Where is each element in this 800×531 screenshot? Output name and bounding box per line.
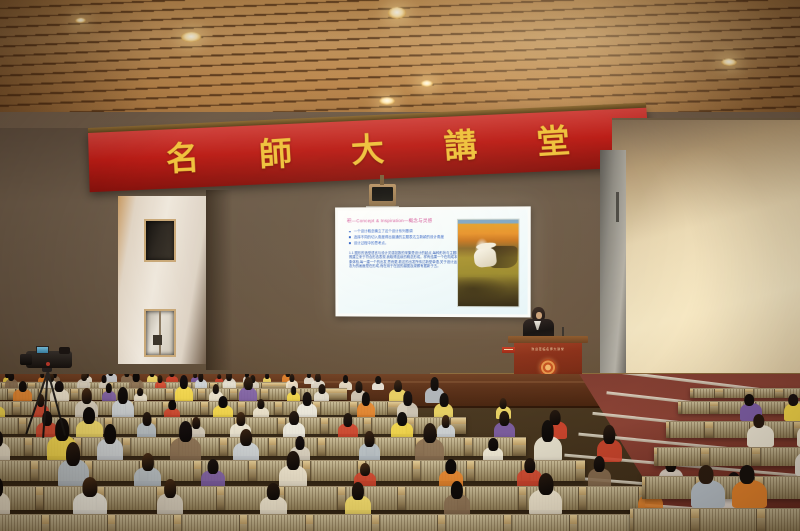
audience-member-head bbox=[240, 429, 252, 446]
seat-back bbox=[586, 487, 639, 510]
slide-bullet-0: 一个设计概念确立了这个设计系列基调 bbox=[349, 229, 466, 234]
projector-lens bbox=[372, 187, 393, 201]
audience-member-head bbox=[289, 374, 294, 382]
seat-back bbox=[669, 422, 705, 437]
audience-member-head bbox=[430, 377, 439, 390]
audience-member-head bbox=[788, 394, 798, 406]
audience-member-head bbox=[365, 431, 374, 447]
seat-back bbox=[445, 515, 504, 531]
wall-niche-lower bbox=[144, 309, 176, 357]
audience-member-body bbox=[784, 403, 800, 421]
audience-member-head bbox=[133, 374, 140, 382]
slide-bullet-1: 选择不同的切入角度得出普通的主题表达立新颖的设计角度 bbox=[349, 235, 466, 240]
projection-screen: 积—Concept & Inspiration—概念与灵感 一个设计概念确立了这… bbox=[335, 206, 531, 317]
camera-lens-icon bbox=[20, 354, 32, 365]
seat-back bbox=[374, 438, 416, 456]
audience-member-head bbox=[524, 458, 535, 474]
audience-member-head bbox=[594, 456, 605, 473]
projector-icon bbox=[369, 184, 396, 206]
seat-back bbox=[511, 515, 570, 531]
audience-member-head bbox=[500, 398, 507, 409]
stage-side-door bbox=[600, 150, 626, 374]
camera-lcd-screen bbox=[36, 346, 49, 354]
audience-member-head bbox=[217, 374, 221, 379]
banner-char-3: 講 bbox=[442, 118, 481, 168]
seat-back bbox=[313, 515, 372, 531]
seat-back bbox=[0, 515, 42, 531]
projector-mount bbox=[380, 175, 384, 185]
seat-back bbox=[284, 487, 337, 510]
presentation-slide: 积—Concept & Inspiration—概念与灵感 一个设计概念确立了这… bbox=[338, 209, 528, 314]
audience-member-head bbox=[397, 412, 407, 426]
slide-painting-image bbox=[457, 219, 520, 308]
seat-back bbox=[0, 461, 31, 481]
audience-member-head bbox=[82, 477, 97, 497]
audience-member-head bbox=[439, 393, 448, 407]
podium-front-text: 欢迎莅临名师大讲堂 bbox=[521, 347, 575, 351]
banner-char-4: 堂 bbox=[535, 114, 574, 164]
seat-back bbox=[0, 418, 19, 433]
slide-title: 积—Concept & Inspiration—概念与灵感 bbox=[347, 218, 433, 224]
audience-member-head bbox=[219, 396, 228, 408]
seat-back bbox=[115, 515, 174, 531]
audience-member-head bbox=[257, 399, 264, 410]
seat-back bbox=[765, 509, 800, 531]
audience-member-head bbox=[66, 442, 80, 466]
seat-back bbox=[49, 515, 108, 531]
camera-viewfinder bbox=[59, 347, 70, 354]
seat-back bbox=[657, 448, 701, 467]
audience-member-head bbox=[81, 374, 87, 381]
audience-member-head bbox=[158, 375, 163, 383]
audience-member-head bbox=[213, 384, 219, 394]
pillar-shadow bbox=[206, 190, 232, 370]
painting-figure-body bbox=[473, 246, 497, 267]
video-camera-on-tripod bbox=[18, 345, 80, 437]
audience-member-head bbox=[168, 400, 176, 410]
seat-back bbox=[92, 461, 140, 481]
audience-member-head bbox=[207, 459, 218, 474]
seat-back bbox=[465, 487, 518, 510]
audience-member-body bbox=[691, 480, 726, 508]
audience-member-head bbox=[740, 465, 755, 484]
seat-row-right-block bbox=[666, 421, 800, 437]
audience-member-head bbox=[179, 421, 193, 442]
audience-member-head bbox=[102, 375, 107, 383]
speaker-collar bbox=[534, 321, 541, 330]
audience-member-head bbox=[604, 425, 616, 444]
seat-back bbox=[633, 509, 691, 531]
slide-bullet-list: 一个设计概念确立了这个设计系列基调选择不同的切入角度得出普通的主题表达立新颖的设… bbox=[349, 229, 466, 247]
downlight-icon-1 bbox=[379, 97, 395, 104]
audience-member-head bbox=[488, 438, 497, 450]
audience-member-head bbox=[315, 374, 321, 382]
seat-back bbox=[760, 448, 800, 467]
lecture-hall-photo: 名師大講堂 积—Concept & Inspiration—概念与灵感 一个设计… bbox=[0, 0, 800, 531]
audience-member-head bbox=[108, 374, 114, 376]
audience-member-head bbox=[244, 377, 252, 391]
audience-member-head bbox=[81, 388, 91, 404]
audience-member-head bbox=[83, 407, 95, 424]
audience-member-head bbox=[267, 483, 279, 500]
audience-member-head bbox=[451, 481, 463, 499]
audience-member-head bbox=[289, 411, 299, 426]
painting-foreground bbox=[458, 277, 518, 307]
tripod-leg-left bbox=[46, 368, 66, 436]
stage-left-pillar bbox=[118, 196, 206, 364]
audience-member-head bbox=[423, 423, 436, 443]
audience-member-head bbox=[180, 375, 188, 389]
audience-member-head bbox=[291, 386, 297, 395]
seat-back bbox=[753, 389, 775, 398]
audience-member-head bbox=[265, 374, 269, 379]
audience-seating-area bbox=[0, 374, 800, 531]
banner-char-1: 師 bbox=[257, 126, 295, 176]
downlight-icon-3 bbox=[421, 80, 433, 86]
audience-member-head bbox=[9, 374, 15, 381]
seat-back bbox=[474, 461, 522, 481]
audience-member-body bbox=[732, 480, 767, 508]
seat-back bbox=[723, 389, 745, 398]
slide-paragraph: 1.1 图形的造型语言与设计灵感如数的采集是设计的起点,每种形状与主题概念的对照… bbox=[349, 251, 470, 269]
audience-member-head bbox=[538, 473, 553, 495]
audience-member-head bbox=[164, 479, 176, 498]
audience-member-head bbox=[295, 436, 304, 449]
audience-member-head bbox=[302, 392, 311, 406]
audience-member-head bbox=[499, 411, 508, 426]
right-side-wall bbox=[612, 120, 800, 378]
audience-member-head bbox=[541, 420, 554, 442]
audience-member-head bbox=[236, 412, 245, 426]
seat-back bbox=[699, 509, 757, 531]
seat-row-right-block bbox=[630, 508, 800, 531]
banner-char-2: 大 bbox=[350, 122, 388, 172]
seat-back bbox=[379, 515, 438, 531]
audience-member-head bbox=[343, 413, 352, 427]
seat-back bbox=[0, 389, 8, 399]
slide-bullet-2: 设计过程中的思考点。 bbox=[349, 240, 466, 245]
audience-member-head bbox=[318, 384, 325, 394]
seat-back bbox=[310, 461, 358, 481]
audience-member-head bbox=[403, 391, 412, 406]
audience-member-head bbox=[442, 415, 450, 428]
podium-top-surface bbox=[508, 336, 588, 343]
seat-back bbox=[247, 515, 306, 531]
audience-member-head bbox=[104, 424, 116, 444]
record-indicator-icon bbox=[46, 362, 50, 366]
audience-member-head bbox=[352, 482, 364, 499]
audience-member-head bbox=[343, 375, 349, 383]
downlight-icon-2 bbox=[388, 7, 406, 19]
audience-member-head bbox=[150, 374, 155, 377]
seat-row bbox=[0, 514, 704, 531]
wall-niche-upper bbox=[144, 219, 176, 262]
audience-member-head bbox=[106, 383, 112, 393]
seat-back bbox=[693, 389, 715, 398]
seat-back bbox=[709, 448, 753, 467]
audience-member-head bbox=[445, 459, 456, 474]
audience-member-head bbox=[355, 381, 362, 392]
banner-char-0: 名 bbox=[165, 131, 203, 181]
camera-body bbox=[26, 351, 72, 368]
audience-member-head bbox=[226, 374, 232, 381]
seat-back bbox=[577, 515, 636, 531]
downlight-icon-4 bbox=[721, 59, 737, 66]
audience-member-head bbox=[137, 388, 143, 396]
podium-name-sign bbox=[502, 347, 515, 353]
audience-member-head bbox=[375, 376, 381, 383]
seat-back bbox=[681, 402, 710, 414]
seat-back bbox=[104, 487, 157, 510]
seat-back bbox=[763, 477, 800, 499]
speaker-face bbox=[536, 312, 542, 319]
audience-member-head bbox=[753, 414, 764, 428]
seat-back bbox=[181, 515, 240, 531]
audience-member-head bbox=[142, 453, 154, 471]
audience-member-body bbox=[747, 425, 773, 446]
audience-member-head bbox=[193, 417, 201, 429]
seat-back bbox=[713, 422, 749, 437]
audience-member-head bbox=[745, 394, 755, 406]
audience-member-head bbox=[287, 451, 300, 470]
audience-member-head bbox=[360, 463, 370, 476]
audience-member-head bbox=[118, 387, 128, 404]
seat-row-right-block bbox=[654, 447, 800, 467]
audience-member-head bbox=[362, 392, 370, 406]
audience-member-head bbox=[142, 412, 151, 426]
audience-member-head bbox=[194, 374, 198, 378]
audience-member-head bbox=[394, 380, 402, 392]
audience-member-head bbox=[698, 465, 713, 484]
seat-back bbox=[645, 477, 696, 499]
